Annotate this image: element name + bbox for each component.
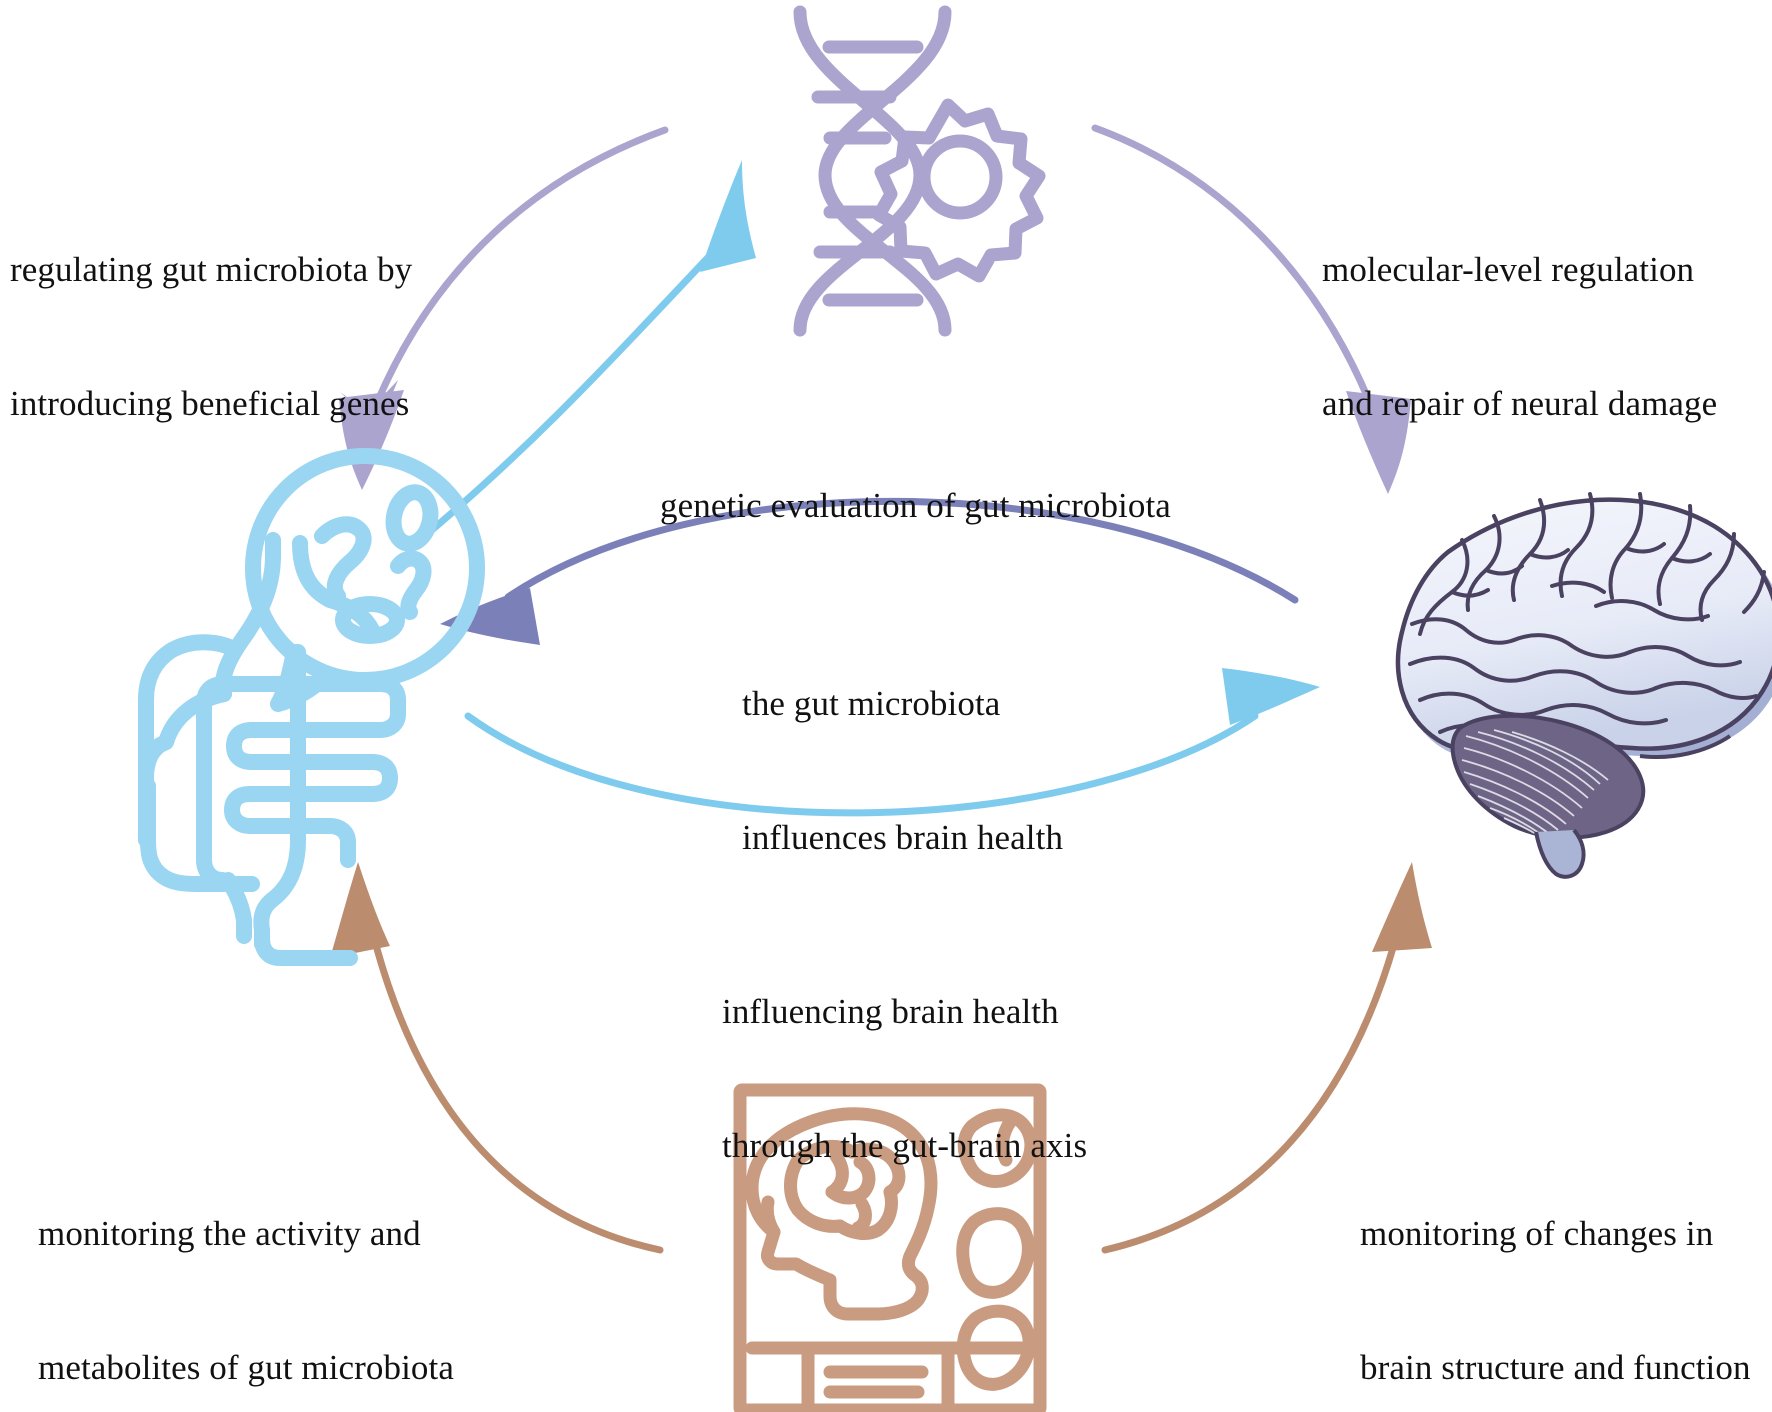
label-bottom-left: monitoring the activity and metabolites … bbox=[38, 1122, 518, 1412]
label-top-left-line-2: introducing beneficial genes bbox=[10, 382, 480, 427]
label-middle-upper-line-1: the gut microbiota bbox=[742, 682, 1142, 727]
label-middle-lower: influencing brain health through the gut… bbox=[722, 900, 1142, 1258]
label-middle-upper: the gut microbiota influences brain heal… bbox=[742, 592, 1142, 950]
label-top-left: regulating gut microbiota by introducing… bbox=[10, 158, 480, 516]
label-top-left-line-1: regulating gut microbiota by bbox=[10, 248, 480, 293]
label-middle-lower-line-1: influencing brain health bbox=[722, 990, 1142, 1035]
label-top-right: molecular-level regulation and repair of… bbox=[1322, 158, 1772, 516]
label-top-right-line-1: molecular-level regulation bbox=[1322, 248, 1772, 293]
label-top-right-line-2: and repair of neural damage bbox=[1322, 382, 1772, 427]
label-bottom-right: monitoring of changes in brain structure… bbox=[1360, 1122, 1772, 1412]
label-middle-lower-line-2: through the gut-brain axis bbox=[722, 1124, 1142, 1169]
label-bottom-left-line-2: metabolites of gut microbiota bbox=[38, 1346, 518, 1391]
gut-microbiota-icon bbox=[146, 456, 477, 958]
brain-anatomy-illustration bbox=[1398, 494, 1772, 877]
label-upper-center: genetic evaluation of gut microbiota bbox=[660, 394, 1240, 618]
label-bottom-left-line-1: monitoring the activity and bbox=[38, 1212, 518, 1257]
label-bottom-right-line-2: brain structure and function bbox=[1360, 1346, 1772, 1391]
label-bottom-right-line-1: monitoring of changes in bbox=[1360, 1212, 1772, 1257]
label-middle-upper-line-2: influences brain health bbox=[742, 816, 1142, 861]
figure-canvas: regulating gut microbiota by introducing… bbox=[0, 0, 1772, 1412]
label-upper-center-line-1: genetic evaluation of gut microbiota bbox=[660, 484, 1240, 529]
